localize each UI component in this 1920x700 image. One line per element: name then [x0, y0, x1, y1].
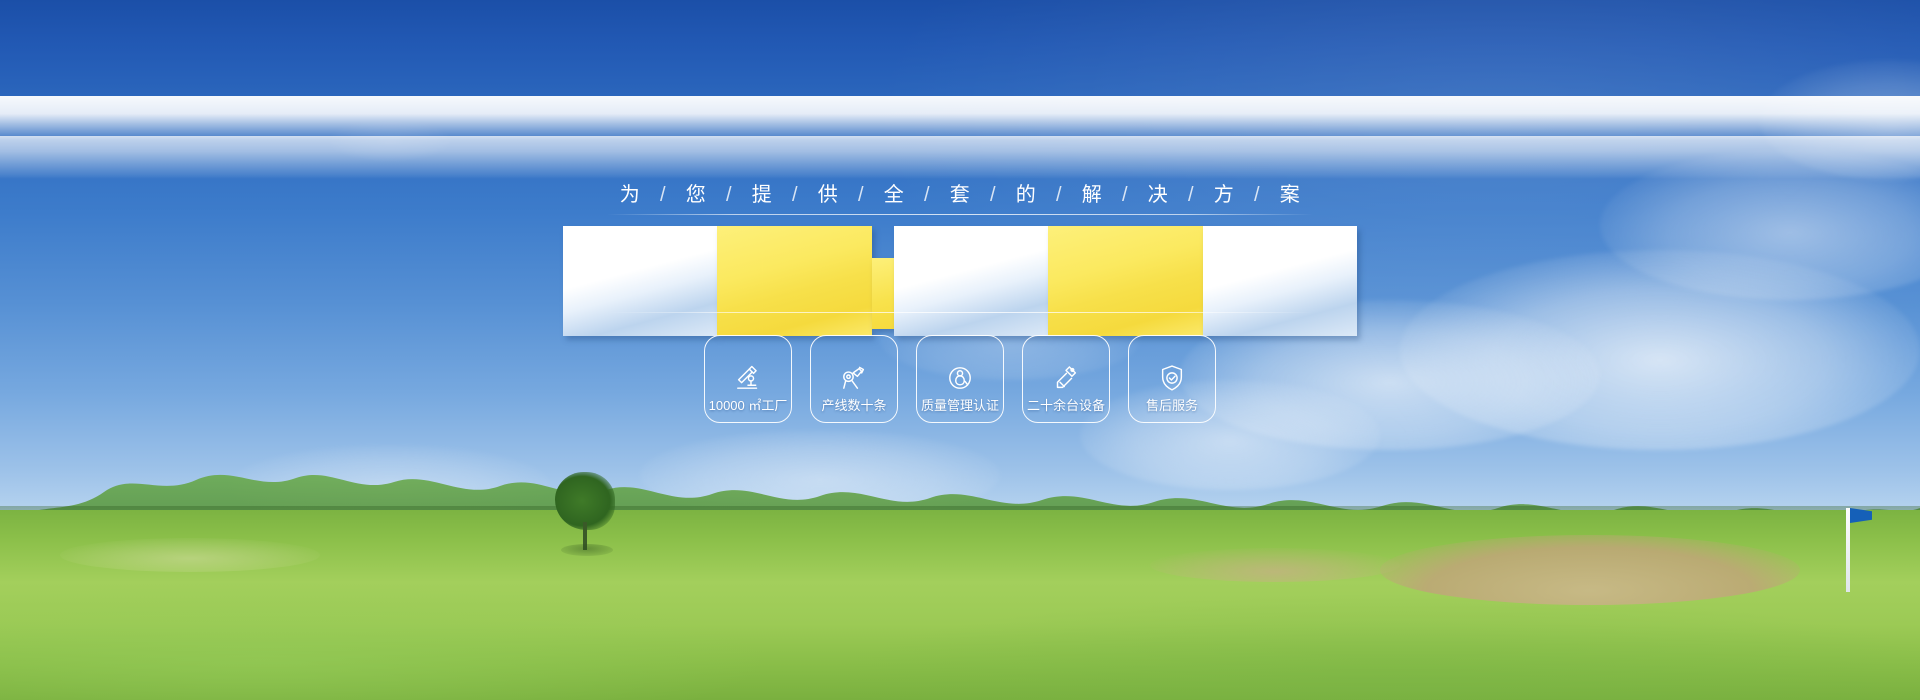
banner-content: INTEGRATED SEWAGE TREATMENT 为/您/提/供/全/套/… [0, 0, 1920, 700]
tagline-char: 套 [943, 178, 977, 207]
feature-badge-label: 产线数十条 [797, 395, 911, 414]
tagline-separator: / [647, 184, 679, 207]
main-headline: 口径增大,出水流量更大 [0, 226, 1920, 336]
english-headline-line1: INTEGRATED [0, 96, 1920, 140]
tagline-separator: / [779, 184, 811, 207]
feature-badge-label: 10000 ㎡工厂 [691, 395, 805, 414]
feature-badge[interactable]: 二十余台设备 [1022, 335, 1110, 423]
tagline-separator: / [713, 184, 745, 207]
tagline-char: 决 [1141, 178, 1175, 207]
tagline-separator: / [1241, 184, 1273, 207]
tagline-char: 供 [811, 178, 845, 207]
feature-badge[interactable]: 质量管理认证 [916, 335, 1004, 423]
tagline-char: 您 [679, 178, 713, 207]
english-headline-line2: SEWAGE TREATMENT [0, 136, 1920, 180]
tagline-char: 案 [1273, 178, 1307, 207]
tagline-separator: / [1043, 184, 1075, 207]
tagline-char: 全 [877, 178, 911, 207]
feature-badge-list: 10000 ㎡工厂 产线数十条 质量管理认证 二十余台设备 售后服务 [0, 335, 1920, 423]
tagline-separator: / [977, 184, 1009, 207]
tagline-char: 方 [1207, 178, 1241, 207]
feature-badge[interactable]: 产线数十条 [810, 335, 898, 423]
microscope-icon [729, 359, 767, 397]
headline-segment: , [872, 258, 894, 329]
tagline-char: 提 [745, 178, 779, 207]
feature-badge-label: 质量管理认证 [903, 395, 1017, 414]
divider-top [607, 214, 1313, 215]
feature-badge-label: 售后服务 [1115, 395, 1229, 414]
headline-segment: 增大 [717, 226, 871, 336]
feature-badge-label: 二十余台设备 [1009, 395, 1123, 414]
certificate-badge-icon [941, 359, 979, 397]
headline-segment: 更大 [1203, 226, 1357, 336]
headline-segment: 口径 [563, 226, 717, 336]
tagline-char: 为 [613, 178, 647, 207]
shield-check-icon [1153, 359, 1191, 397]
headline-segment: 出水 [894, 226, 1048, 336]
tagline-separator: / [911, 184, 943, 207]
english-headline-group: INTEGRATED SEWAGE TREATMENT [0, 96, 1920, 179]
tagline-char: 解 [1075, 178, 1109, 207]
hero-banner: INTEGRATED SEWAGE TREATMENT 为/您/提/供/全/套/… [0, 0, 1920, 700]
tagline-separator: / [1109, 184, 1141, 207]
equipment-tool-icon [1047, 359, 1085, 397]
feature-badge[interactable]: 售后服务 [1128, 335, 1216, 423]
production-line-icon [835, 359, 873, 397]
tagline: 为/您/提/供/全/套/的/解/决/方/案 [0, 178, 1920, 207]
tagline-separator: / [1175, 184, 1207, 207]
headline-segment: 流量 [1048, 226, 1202, 336]
feature-badge[interactable]: 10000 ㎡工厂 [704, 335, 792, 423]
tagline-char: 的 [1009, 178, 1043, 207]
tagline-separator: / [845, 184, 877, 207]
divider-bottom [607, 312, 1313, 313]
